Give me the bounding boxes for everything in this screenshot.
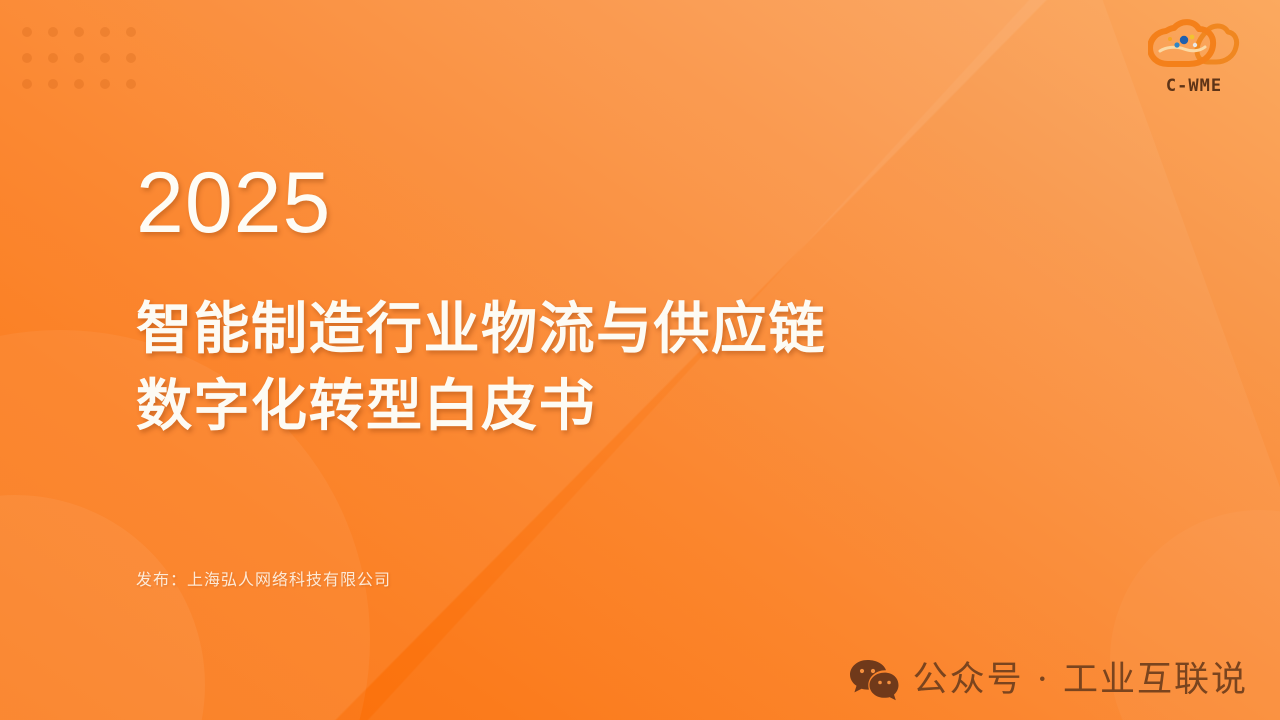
grid-dot [48, 79, 58, 89]
publisher-label: 发布：上海弘人网络科技有限公司 [136, 566, 391, 590]
page-title-line-1: 智能制造行业物流与供应链 [136, 290, 1076, 367]
cloud-icon [1148, 18, 1240, 76]
wechat-account-label: 公众号 · 工业互联说 [913, 663, 1248, 698]
grid-dot [48, 53, 58, 63]
grid-dot [48, 27, 58, 37]
page-title-line-2: 数字化转型白皮书 [136, 367, 1076, 444]
dot-grid-decoration [22, 27, 152, 105]
grid-dot [126, 27, 136, 37]
grid-dot [100, 27, 110, 37]
whitepaper-cover-slide: C-WME 2025 智能制造行业物流与供应链 数字化转型白皮书 发布：上海弘人… [0, 0, 1280, 720]
cover-content: 2025 智能制造行业物流与供应链 数字化转型白皮书 [136, 160, 1076, 445]
grid-dot [74, 53, 84, 63]
circle-decoration-inner [0, 495, 205, 720]
grid-dot [100, 79, 110, 89]
grid-dot [74, 79, 84, 89]
wechat-account-footer: 公众号 · 工业互联说 [849, 658, 1248, 702]
year-label: 2025 [136, 160, 1076, 246]
grid-dot [126, 53, 136, 63]
grid-dot [22, 53, 32, 63]
grid-dot [74, 27, 84, 37]
logo-wordmark: C-WME [1166, 78, 1222, 95]
page-title: 智能制造行业物流与供应链 数字化转型白皮书 [136, 290, 1076, 445]
grid-dot [22, 27, 32, 37]
wechat-icon [849, 658, 899, 702]
grid-dot [100, 53, 110, 63]
brand-logo: C-WME [1136, 18, 1252, 95]
grid-dot [22, 79, 32, 89]
grid-dot [126, 79, 136, 89]
